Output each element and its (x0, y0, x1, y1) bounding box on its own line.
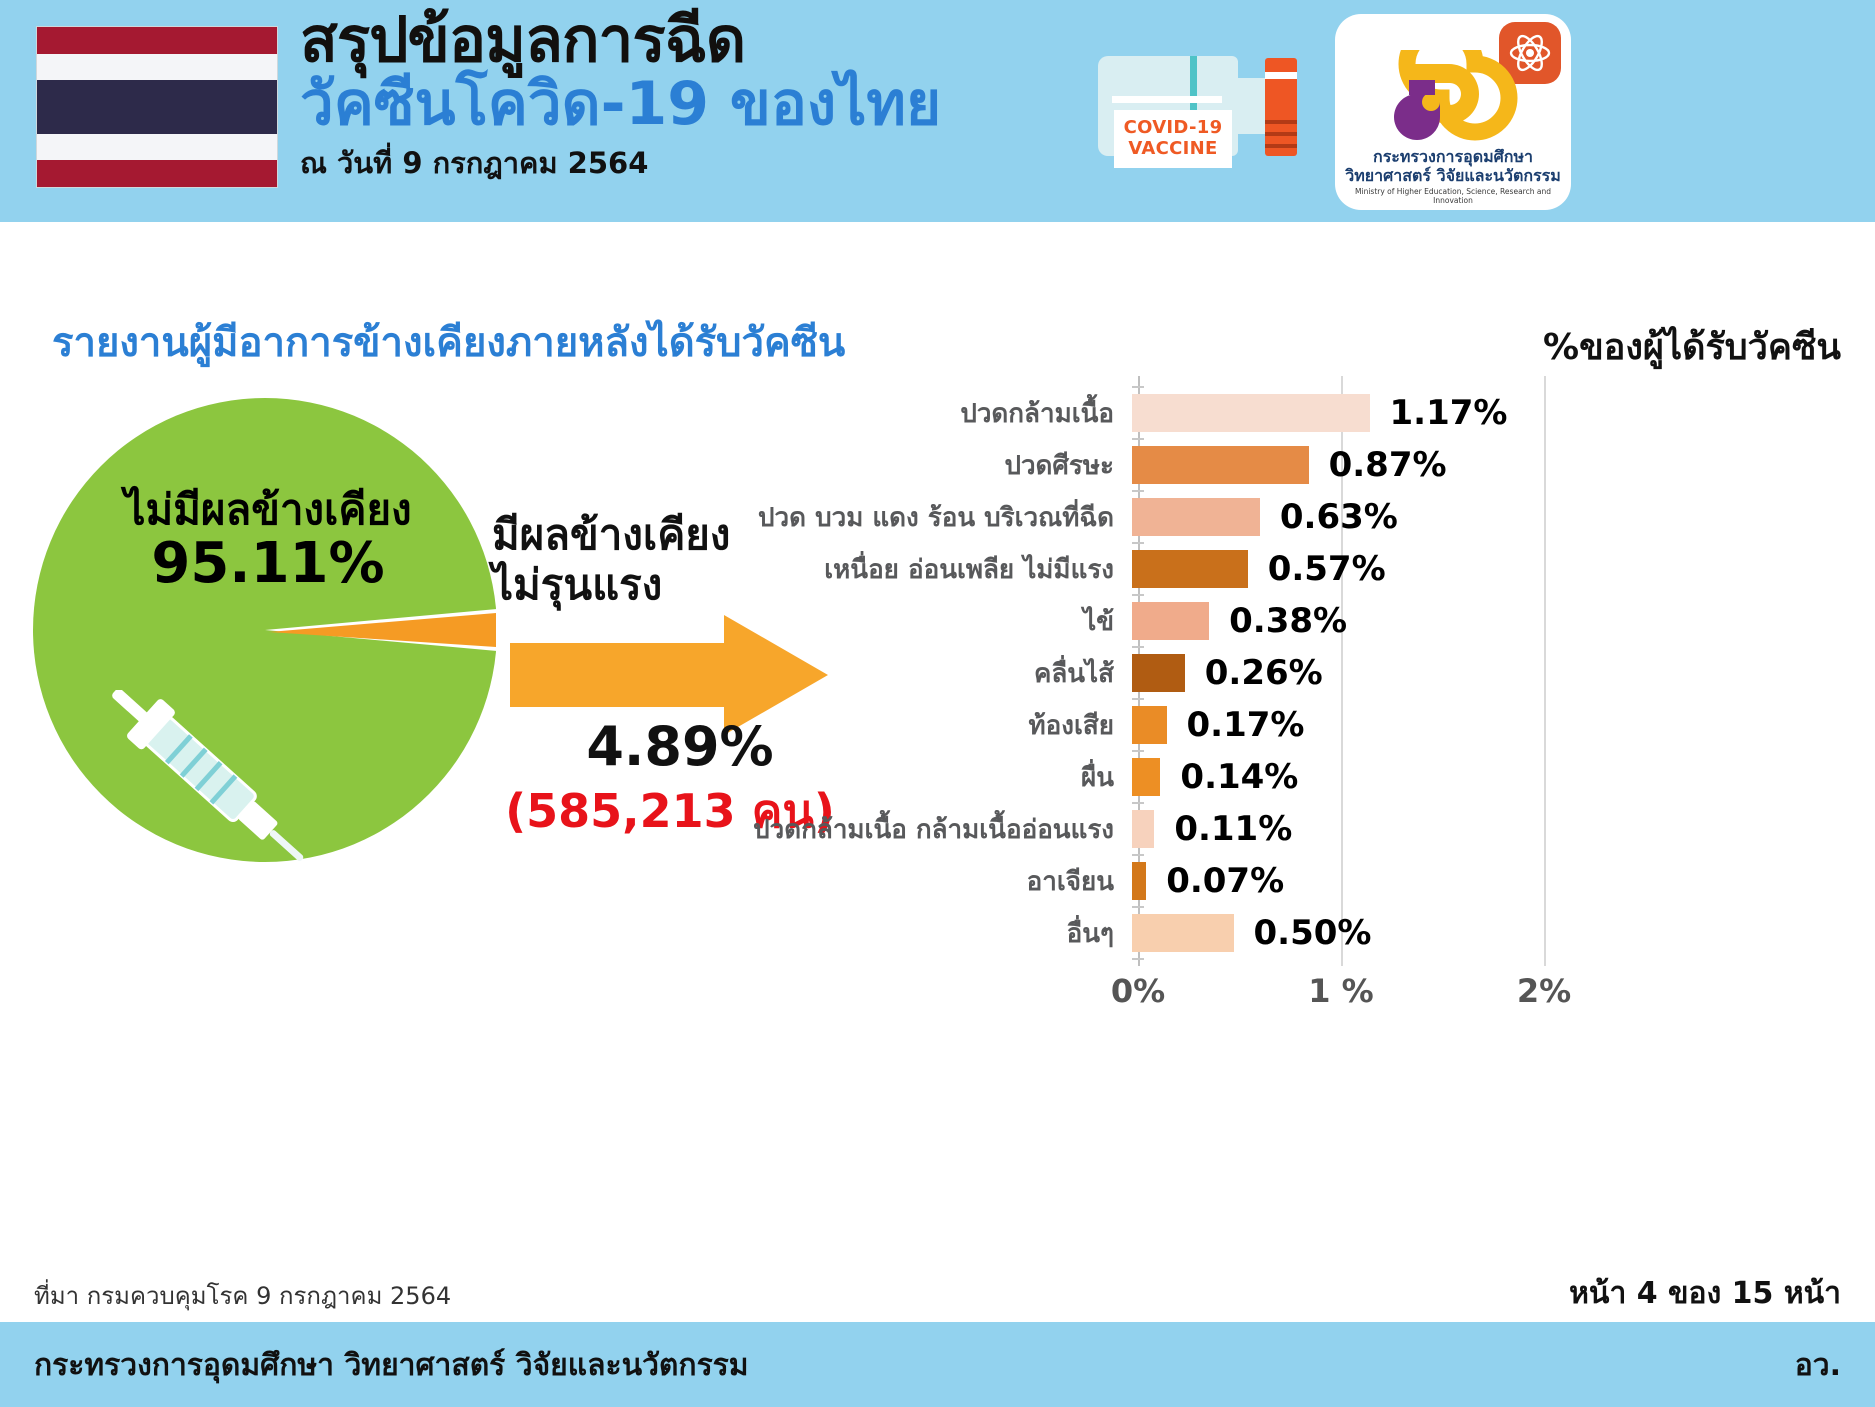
bar-track: 0.17% (1130, 702, 1845, 748)
bar-track: 0.26% (1130, 650, 1845, 696)
bar-track: 0.57% (1130, 546, 1845, 592)
x-tick-label: 1 % (1308, 972, 1373, 1010)
bar-track: 0.07% (1130, 858, 1845, 904)
x-tick-label: 0% (1111, 972, 1165, 1010)
bar (1132, 914, 1234, 952)
bar-value-label: 0.38% (1229, 601, 1347, 641)
ministry-name: กระทรวงการอุดมศึกษา วิทยาศาสตร์ วิจัยและ… (1335, 148, 1571, 205)
ministry-name-line2: วิทยาศาสตร์ วิจัยและนวัตกรรม (1335, 167, 1571, 186)
bar-value-label: 0.07% (1166, 861, 1284, 901)
ministry-mark-icon (1357, 50, 1547, 146)
bar (1132, 654, 1185, 692)
vial-label-vaccine: VACCINE (1128, 139, 1217, 160)
footer-abbrev: อว. (1795, 1342, 1841, 1389)
axis-tick (1132, 386, 1144, 388)
bar-category-label: ปวดกล้ามเนื้อ (745, 393, 1130, 434)
bar (1132, 550, 1248, 588)
bar (1132, 446, 1309, 484)
thai-flag-icon (36, 26, 278, 188)
axis-tick (1132, 750, 1144, 752)
bar-category-label: อาเจียน (745, 861, 1130, 902)
x-tick-label: 2% (1517, 972, 1571, 1010)
bar-category-label: เหนื่อย อ่อนเพลีย ไม่มีแรง (745, 549, 1130, 590)
bar-row: ไข้0.38% (745, 598, 1845, 644)
axis-tick (1132, 438, 1144, 440)
bar-value-label: 0.11% (1174, 809, 1292, 849)
bar-value-label: 1.17% (1390, 393, 1508, 433)
side-effect-bar-chart: ปวดกล้ามเนื้อ1.17%ปวดศีรษะ0.87%ปวด บวม แ… (745, 376, 1845, 996)
report-date: ณ วันที่ 9 กรกฎาคม 2564 (300, 140, 1090, 186)
bar-row: คลื่นไส้0.26% (745, 650, 1845, 696)
bar-category-label: ผื่น (745, 757, 1130, 798)
syringe-icon (105, 690, 335, 880)
bar-category-label: ปวดศีรษะ (745, 445, 1130, 486)
bar-value-label: 0.57% (1268, 549, 1386, 589)
page-header: สรุปข้อมูลการฉีด วัคซีนโควิด-19 ของไทย ณ… (0, 0, 1875, 222)
bar (1132, 810, 1154, 848)
bar-track: 0.11% (1130, 806, 1845, 852)
vial-label-covid: COVID-19 (1124, 118, 1223, 139)
footer-ministry-name: กระทรวงการอุดมศึกษา วิทยาศาสตร์ วิจัยและ… (34, 1342, 749, 1389)
bar (1132, 758, 1160, 796)
page-number: หน้า 4 ของ 15 หน้า (1569, 1270, 1841, 1317)
bar-category-label: ปวดกล้ามเนื้อ กล้ามเนื้ออ่อนแรง (745, 809, 1130, 850)
axis-tick (1132, 542, 1144, 544)
x-axis-labels: 0%1 %2% (745, 972, 1845, 1032)
bar-row: ปวดกล้ามเนื้อ1.17% (745, 390, 1845, 436)
axis-tick (1132, 958, 1144, 960)
bar (1132, 394, 1370, 432)
bar (1132, 498, 1260, 536)
bar-track: 1.17% (1130, 390, 1845, 436)
page-title-line2: วัคซีนโควิด-19 ของไทย (300, 73, 1090, 136)
bar-value-label: 0.17% (1187, 705, 1305, 745)
footer-bar: กระทรวงการอุดมศึกษา วิทยาศาสตร์ วิจัยและ… (0, 1322, 1875, 1407)
ministry-name-line1: กระทรวงการอุดมศึกษา (1335, 148, 1571, 167)
header-title-block: สรุปข้อมูลการฉีด วัคซีนโควิด-19 ของไทย ณ… (300, 8, 1090, 186)
bar-track: 0.63% (1130, 494, 1845, 540)
source-note: ที่มา กรมควบคุมโรค 9 กรกฎาคม 2564 (34, 1276, 451, 1315)
axis-tick (1132, 490, 1144, 492)
bar-value-label: 0.87% (1329, 445, 1447, 485)
bar-row: อื่นๆ0.50% (745, 910, 1845, 956)
bar-category-label: คลื่นไส้ (745, 653, 1130, 694)
bar-category-label: ไข้ (745, 601, 1130, 642)
bar-value-label: 0.63% (1280, 497, 1398, 537)
axis-tick (1132, 906, 1144, 908)
bar (1132, 602, 1209, 640)
axis-tick (1132, 698, 1144, 700)
infographic-page: สรุปข้อมูลการฉีด วัคซีนโควิด-19 ของไทย ณ… (0, 0, 1875, 1407)
bar (1132, 706, 1167, 744)
page-title-line1: สรุปข้อมูลการฉีด (300, 8, 1090, 71)
bar-track: 0.14% (1130, 754, 1845, 800)
bar-row: เหนื่อย อ่อนเพลีย ไม่มีแรง0.57% (745, 546, 1845, 592)
section-title: รายงานผู้มีอาการข้างเคียงภายหลังได้รับวั… (52, 310, 845, 374)
bar-track: 0.38% (1130, 598, 1845, 644)
axis-tick (1132, 854, 1144, 856)
axis-tick (1132, 594, 1144, 596)
vaccine-vial-icon: COVID-19 VACCINE (1090, 34, 1320, 174)
bar-row: ปวด บวม แดง ร้อน บริเวณที่ฉีด0.63% (745, 494, 1845, 540)
bar-value-label: 0.14% (1180, 757, 1298, 797)
bar-row: ผื่น0.14% (745, 754, 1845, 800)
bar-track: 0.87% (1130, 442, 1845, 488)
bar-category-label: อื่นๆ (745, 913, 1130, 954)
bar-category-label: ท้องเสีย (745, 705, 1130, 746)
chart-header-label: %ของผู้ได้รับวัคซีน (1543, 318, 1841, 375)
bar-track: 0.50% (1130, 910, 1845, 956)
bar-value-label: 0.50% (1254, 913, 1372, 953)
ministry-logo: กระทรวงการอุดมศึกษา วิทยาศาสตร์ วิจัยและ… (1335, 14, 1571, 210)
axis-tick (1132, 646, 1144, 648)
axis-tick (1132, 802, 1144, 804)
ministry-name-english: Ministry of Higher Education, Science, R… (1335, 188, 1571, 206)
bar-row: ท้องเสีย0.17% (745, 702, 1845, 748)
bar-category-label: ปวด บวม แดง ร้อน บริเวณที่ฉีด (745, 497, 1130, 538)
bar-row: ปวดศีรษะ0.87% (745, 442, 1845, 488)
bar-value-label: 0.26% (1205, 653, 1323, 693)
bar-row: อาเจียน0.07% (745, 858, 1845, 904)
bar (1132, 862, 1146, 900)
bar-row: ปวดกล้ามเนื้อ กล้ามเนื้ออ่อนแรง0.11% (745, 806, 1845, 852)
